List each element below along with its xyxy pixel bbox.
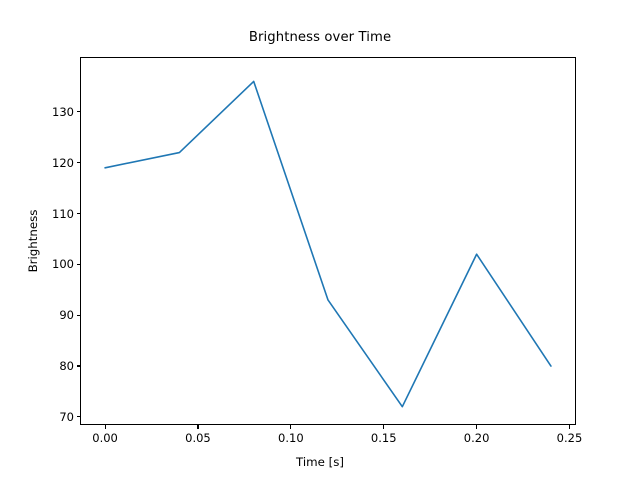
y-tick-label: 90 [38, 308, 74, 322]
y-tick-label: 120 [38, 156, 74, 170]
x-tick-label: 0.15 [371, 431, 397, 445]
y-tick-label: 130 [38, 105, 74, 119]
y-tick-mark [77, 264, 81, 265]
y-tick-label: 110 [38, 207, 74, 221]
y-tick-mark [77, 111, 81, 112]
x-tick-mark [290, 425, 291, 429]
x-axis-label: Time [s] [0, 455, 640, 469]
y-tick-mark [77, 213, 81, 214]
x-tick-label: 0.10 [278, 431, 304, 445]
x-tick-label: 0.25 [557, 431, 583, 445]
matplotlib-figure: Brightness over Time 0.000.050.100.150.2… [0, 0, 640, 480]
y-tick-label: 70 [38, 410, 74, 424]
x-tick-mark [105, 425, 106, 429]
x-tick-label: 0.05 [185, 431, 211, 445]
y-tick-label: 80 [38, 359, 74, 373]
data-polyline [105, 81, 551, 406]
y-tick-mark [77, 365, 81, 366]
y-tick-label: 100 [38, 257, 74, 271]
y-tick-mark [77, 315, 81, 316]
y-tick-mark [77, 162, 81, 163]
line-series-brightness [80, 57, 576, 425]
x-tick-mark [476, 425, 477, 429]
x-tick-mark [569, 425, 570, 429]
x-tick-label: 0.00 [92, 431, 118, 445]
chart-title: Brightness over Time [0, 30, 640, 45]
x-tick-mark [383, 425, 384, 429]
y-axis-label: Brightness [26, 210, 40, 273]
x-tick-mark [197, 425, 198, 429]
plot-area [80, 57, 576, 425]
y-tick-mark [77, 416, 81, 417]
x-tick-label: 0.20 [464, 431, 490, 445]
